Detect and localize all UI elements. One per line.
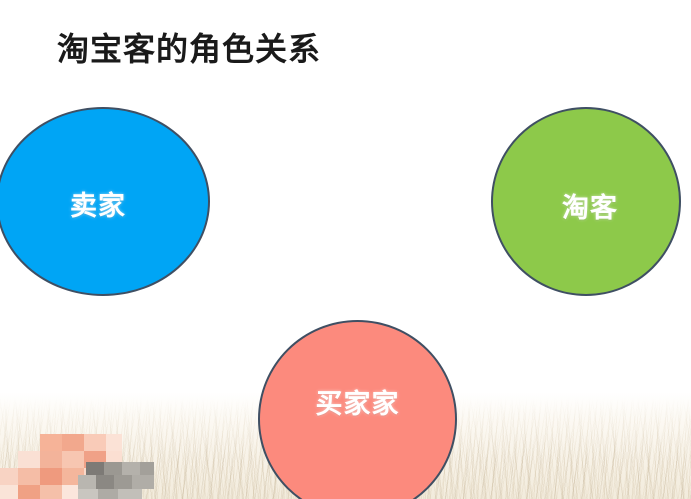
mosaic-block xyxy=(78,475,96,489)
mosaic-block xyxy=(62,485,78,499)
mosaic-block xyxy=(118,489,142,499)
mosaic-block xyxy=(98,489,118,499)
mosaic-block xyxy=(40,485,62,499)
node-taoke[interactable]: 淘客 xyxy=(491,107,681,296)
mosaic-block xyxy=(40,468,62,485)
mosaic-block xyxy=(106,434,122,451)
slide-canvas: 淘宝客的角色关系 卖家 淘客 买家家 xyxy=(0,0,691,499)
mosaic-block xyxy=(122,462,140,475)
mosaic-block xyxy=(114,475,132,489)
node-seller-label: 卖家 xyxy=(70,184,126,223)
mosaic-block xyxy=(18,485,40,499)
mosaic-block xyxy=(40,434,62,451)
node-seller[interactable]: 卖家 xyxy=(0,107,210,296)
mosaic-block xyxy=(18,468,40,485)
mosaic-block xyxy=(0,485,18,499)
page-title: 淘宝客的角色关系 xyxy=(57,30,321,68)
mosaic-block xyxy=(84,434,106,451)
mosaic-block xyxy=(96,475,114,489)
mosaic-block xyxy=(140,462,154,475)
mosaic-watermark xyxy=(0,432,150,499)
mosaic-block xyxy=(18,451,40,468)
mosaic-block xyxy=(132,475,154,489)
mosaic-block xyxy=(40,451,62,468)
mosaic-block xyxy=(104,462,122,475)
node-taoke-label: 淘客 xyxy=(562,186,618,225)
node-buyer-label: 买家家 xyxy=(316,382,400,421)
mosaic-block xyxy=(86,462,104,475)
mosaic-block xyxy=(62,451,84,468)
mosaic-block xyxy=(0,468,18,485)
mosaic-block xyxy=(62,434,84,451)
mosaic-block xyxy=(78,489,98,499)
